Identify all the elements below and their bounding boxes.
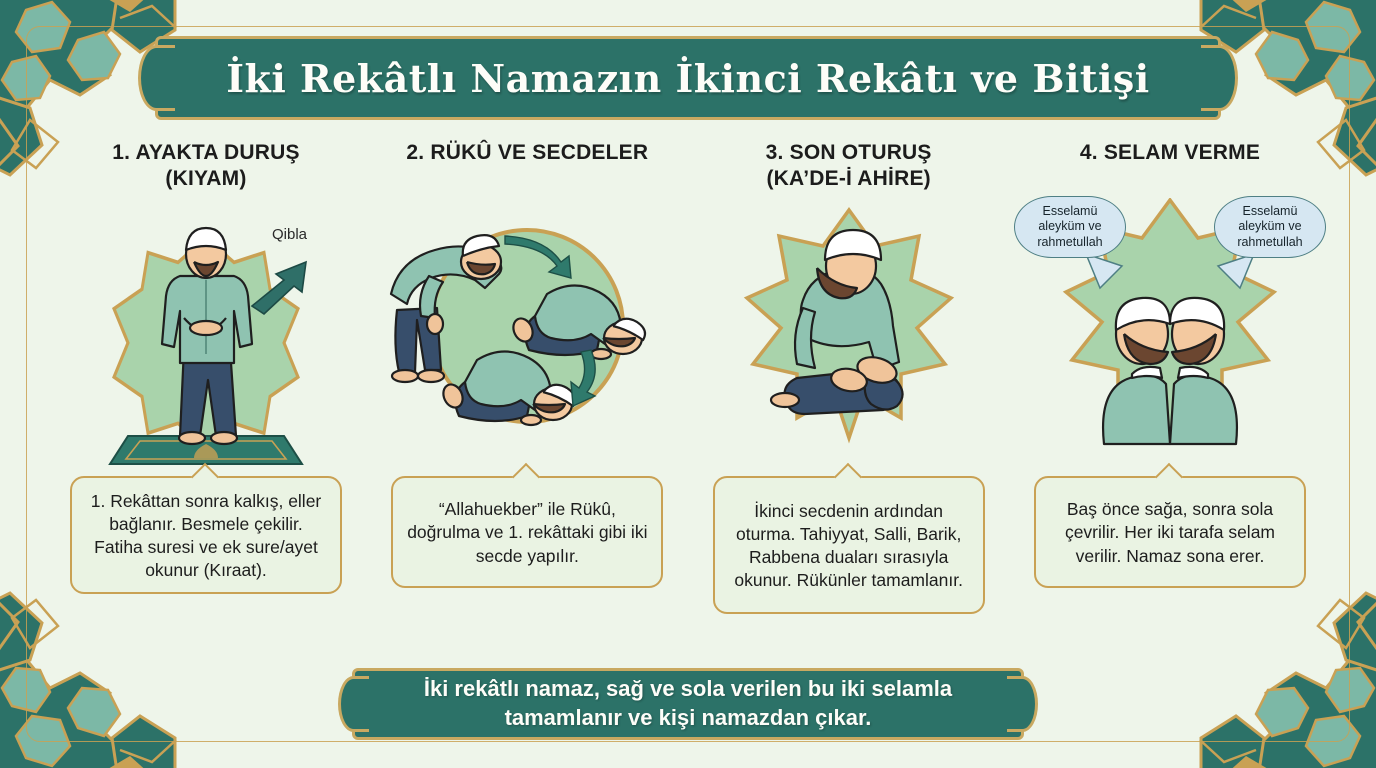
speech-bubble-left: Esselamü aleyküm ve rahmetullah — [1014, 196, 1126, 258]
step-1-heading: 1. AYAKTA DURUŞ (KIYAM) — [112, 140, 299, 196]
step-3-heading-line1: 3. SON OTURUŞ — [766, 140, 932, 166]
footer-text: İki rekâtlı namaz, sağ ve sola verilen b… — [352, 668, 1024, 740]
step-column-1: 1. AYAKTA DURUŞ (KIYAM) — [56, 140, 356, 650]
footer-banner: İki rekâtlı namaz, sağ ve sola verilen b… — [352, 668, 1024, 740]
step-1-heading-line1: 1. AYAKTA DURUŞ — [112, 140, 299, 166]
step-2-illustration — [377, 198, 677, 468]
step-4-heading-line1: 4. SELAM VERME — [1080, 140, 1260, 166]
step-2-heading: 2. RÜKÛ VE SECDELER — [406, 140, 648, 196]
step-1-caption: 1. Rekâttan sonra kalkış, eller bağlanır… — [70, 476, 342, 594]
step-3-illustration — [699, 198, 999, 468]
page-title: İki Rekâtlı Namazın İkinci Rekâtı ve Bit… — [155, 36, 1221, 120]
step-4-caption: Baş önce sağa, sonra sola çevrilir. Her … — [1034, 476, 1306, 588]
step-column-2: 2. RÜKÛ VE SECDELER — [377, 140, 677, 650]
step-1-heading-line2: (KIYAM) — [112, 166, 299, 192]
step-4-illustration: Esselamü aleyküm ve rahmetullah Esselamü… — [1020, 198, 1320, 468]
infographic-poster: İki Rekâtlı Namazın İkinci Rekâtı ve Bit… — [0, 0, 1376, 768]
step-4-heading: 4. SELAM VERME — [1080, 140, 1260, 196]
step-column-3: 3. SON OTURUŞ (KA’DE-İ AHİRE) — [699, 140, 999, 650]
step-2-caption: “Allahuekber” ile Rükû, doğrulma ve 1. r… — [391, 476, 663, 588]
step-3-heading-line2: (KA’DE-İ AHİRE) — [766, 166, 932, 192]
title-banner: İki Rekâtlı Namazın İkinci Rekâtı ve Bit… — [155, 36, 1221, 120]
steps-container: 1. AYAKTA DURUŞ (KIYAM) — [56, 140, 1320, 650]
step-column-4: 4. SELAM VERME — [1020, 140, 1320, 650]
step-2-heading-line1: 2. RÜKÛ VE SECDELER — [406, 140, 648, 166]
step-3-heading: 3. SON OTURUŞ (KA’DE-İ AHİRE) — [766, 140, 932, 196]
prayer-rug — [110, 436, 302, 464]
step-3-caption: İkinci secdenin ardından oturma. Tahiyya… — [713, 476, 985, 614]
step-1-illustration — [56, 198, 356, 468]
qibla-label: Qibla — [272, 226, 307, 243]
speech-bubble-right: Esselamü aleyküm ve rahmetullah — [1214, 196, 1326, 258]
